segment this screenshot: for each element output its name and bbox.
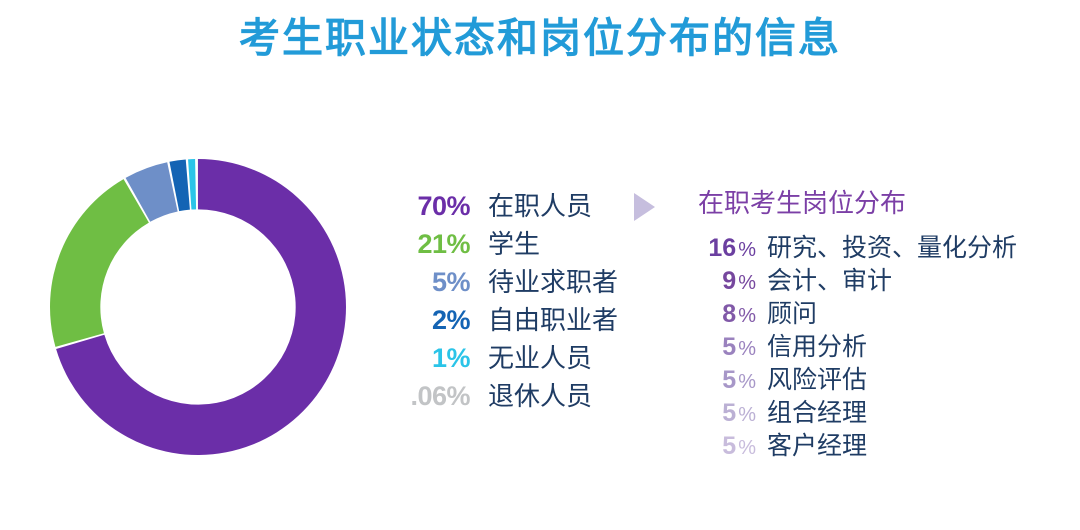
page-title: 考生职业状态和岗位分布的信息 — [239, 14, 841, 63]
job-percent: 16% — [694, 234, 756, 263]
job-label: 信用分析 — [756, 327, 867, 363]
percent-symbol: % — [736, 404, 756, 426]
job-percent-value: 8 — [722, 300, 736, 328]
legend-percent: 1% — [390, 343, 470, 374]
legend-label: 自由职业者 — [470, 300, 618, 337]
job-row[interactable]: 5% 信用分析 — [694, 327, 1074, 360]
job-row[interactable]: 8% 顾问 — [694, 294, 1074, 327]
percent-symbol: % — [736, 437, 756, 459]
job-row[interactable]: 5% 组合经理 — [694, 393, 1074, 426]
job-row[interactable]: 16% 研究、投资、量化分析 — [694, 228, 1074, 261]
jobs-distribution-panel: 在职考生岗位分布 16% 研究、投资、量化分析 9% 会计、审计 8% 顾问 5… — [694, 188, 1074, 459]
job-row[interactable]: 9% 会计、审计 — [694, 261, 1074, 294]
legend-percent: 2% — [390, 305, 470, 336]
legend-row[interactable]: .06% 退休人员 — [390, 376, 620, 414]
jobs-panel-heading: 在职考生岗位分布 — [694, 188, 1074, 228]
legend-row[interactable]: 70% 在职人员 — [390, 186, 620, 224]
legend-percent: 21% — [390, 229, 470, 260]
percent-symbol: % — [736, 272, 756, 294]
percent-symbol: % — [736, 338, 756, 360]
percent-symbol: % — [736, 305, 756, 327]
legend-row[interactable]: 1% 无业人员 — [390, 338, 620, 376]
legend-row[interactable]: 5% 待业求职者 — [390, 262, 620, 300]
job-label: 研究、投资、量化分析 — [756, 228, 1017, 264]
donut-chart-svg — [48, 155, 348, 460]
job-percent-value: 9 — [722, 267, 736, 295]
job-percent-value: 5 — [722, 432, 736, 460]
legend-percent: 70% — [390, 191, 470, 222]
legend-label: 在职人员 — [470, 186, 592, 223]
job-percent-value: 5 — [722, 333, 736, 361]
job-percent: 5% — [694, 399, 756, 428]
legend-label: 退休人员 — [470, 376, 592, 413]
percent-symbol: % — [736, 371, 756, 393]
legend-label: 学生 — [470, 224, 540, 261]
donut-segment-group — [50, 159, 346, 455]
legend-label: 无业人员 — [470, 338, 592, 375]
job-row[interactable]: 5% 风险评估 — [694, 360, 1074, 393]
job-label: 顾问 — [756, 294, 817, 330]
job-label: 组合经理 — [756, 393, 867, 429]
job-label: 客户经理 — [756, 426, 867, 462]
job-label: 会计、审计 — [756, 261, 892, 297]
legend-percent: .06% — [390, 381, 470, 412]
job-percent: 5% — [694, 366, 756, 395]
legend-percent: 5% — [390, 267, 470, 298]
percent-symbol: % — [736, 239, 756, 261]
triangle-right-icon — [634, 193, 655, 221]
job-percent: 5% — [694, 333, 756, 362]
donut-segment[interactable] — [50, 179, 149, 347]
title-bar: 考生职业状态和岗位分布的信息 — [0, 14, 1080, 63]
legend-row[interactable]: 2% 自由职业者 — [390, 300, 620, 338]
job-percent-value: 5 — [722, 399, 736, 427]
job-percent-value: 5 — [722, 366, 736, 394]
job-percent: 5% — [694, 432, 756, 461]
legend-label: 待业求职者 — [470, 262, 618, 299]
legend-row[interactable]: 21% 学生 — [390, 224, 620, 262]
job-percent: 8% — [694, 300, 756, 329]
job-percent-value: 16 — [708, 234, 736, 262]
job-label: 风险评估 — [756, 360, 867, 396]
occupation-legend: 70% 在职人员 21% 学生 5% 待业求职者 2% 自由职业者 1% 无业人… — [390, 186, 620, 414]
donut-chart — [48, 155, 348, 460]
job-percent: 9% — [694, 267, 756, 296]
job-row[interactable]: 5% 客户经理 — [694, 426, 1074, 459]
